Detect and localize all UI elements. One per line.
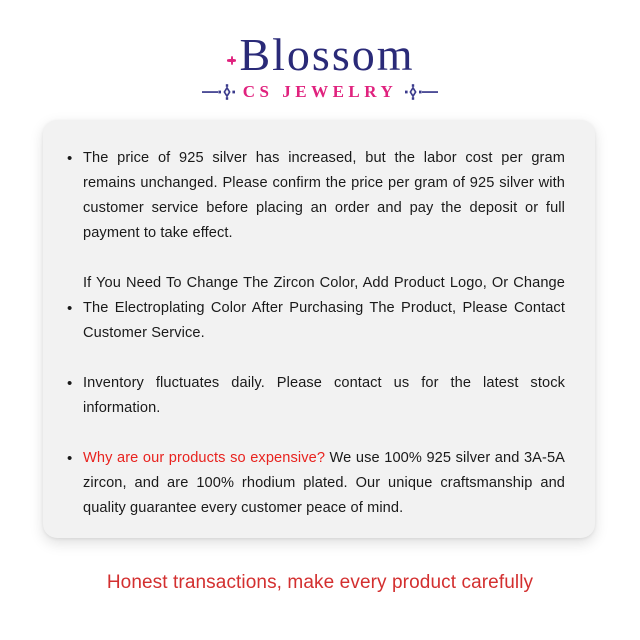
brand-header: Blossom CS JEWELRY — [0, 30, 640, 102]
notice-text: Inventory fluctuates daily. Please conta… — [83, 371, 565, 421]
sparkle-icon — [227, 56, 236, 65]
brand-wordmark-text: Blossom — [239, 29, 414, 80]
brand-subtitle-text: CS JEWELRY — [243, 82, 397, 102]
notice-card: • The price of 925 silver has increased,… — [43, 120, 595, 538]
notice-text-with-highlight: Why are our products so expensive? We us… — [83, 446, 565, 521]
brand-subtitle-row: CS JEWELRY — [0, 82, 640, 102]
bullet-marker-icon: • — [67, 302, 83, 316]
list-item: • Why are our products so expensive? We … — [67, 446, 565, 521]
bullet-marker-icon: • — [67, 371, 83, 396]
list-item: • The price of 925 silver has increased,… — [67, 146, 565, 246]
bullet-marker-icon: • — [67, 146, 83, 171]
bullet-marker-icon: • — [67, 446, 83, 471]
list-item: • If You Need To Change The Zircon Color… — [67, 271, 565, 346]
list-item: • Inventory fluctuates daily. Please con… — [67, 371, 565, 421]
notice-bullet-list: • The price of 925 silver has increased,… — [67, 146, 565, 521]
diamond-ornament-left-icon — [202, 84, 236, 100]
notice-text: The price of 925 silver has increased, b… — [83, 146, 565, 246]
highlight-question: Why are our products so expensive? — [83, 450, 325, 466]
brand-wordmark-container: Blossom — [225, 30, 414, 80]
notice-text: If You Need To Change The Zircon Color, … — [83, 271, 565, 346]
diamond-ornament-right-icon — [404, 84, 438, 100]
footer-slogan: Honest transactions, make every product … — [0, 570, 640, 596]
